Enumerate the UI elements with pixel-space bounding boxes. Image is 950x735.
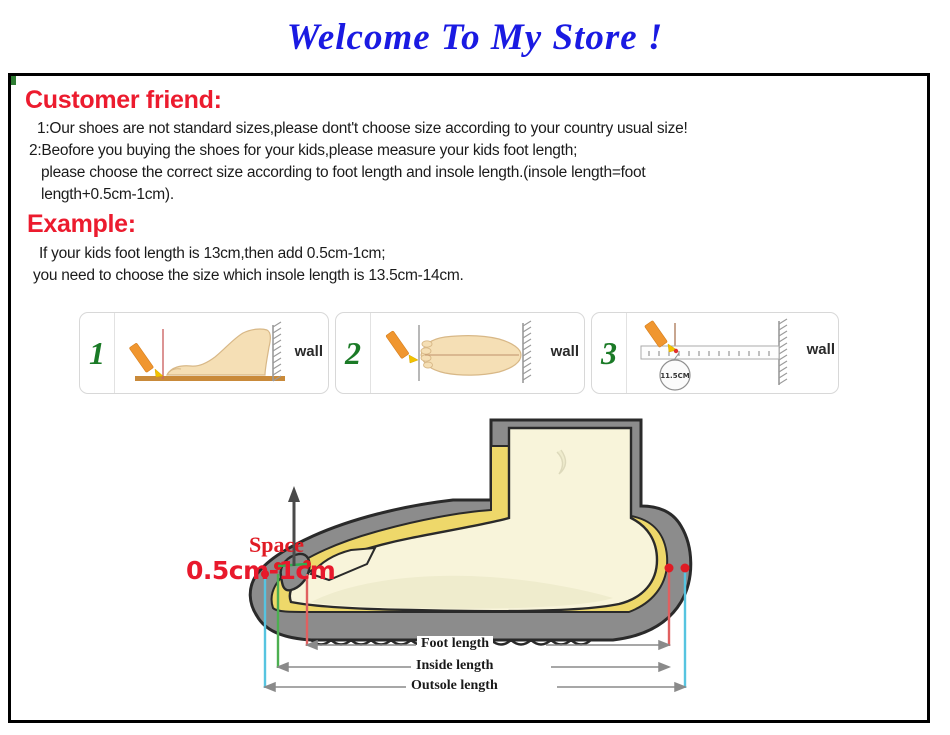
ruler-reading-text: 11.5CM	[660, 372, 689, 380]
step-card-3: 3	[591, 312, 839, 394]
step-3-number-cell: 3	[592, 313, 627, 393]
dimension-label-inside-length: Inside length	[412, 658, 497, 674]
space-label: Space	[249, 532, 304, 558]
example-heading: Example:	[27, 210, 136, 239]
measurement-steps: 1	[79, 312, 839, 394]
corner-accent-mark	[11, 76, 16, 85]
space-value-label: 0.5cm-1cm	[186, 556, 335, 585]
heel-marker-outsole	[681, 564, 690, 573]
dimension-label-outsole-length: Outsole length	[407, 678, 502, 694]
step-2-number: 2	[345, 337, 361, 369]
step-3-number: 3	[601, 337, 617, 369]
step-1-number-cell: 1	[80, 313, 115, 393]
shoe-cross-section-diagram: Space 0.5cm-1cm Foot length Inside lengt…	[161, 406, 781, 716]
customer-line-2: 2:Beofore you buying the shoes for your …	[29, 142, 577, 160]
page-title: Welcome To My Store !	[0, 16, 950, 59]
step-3-illustration: 11.5CM wall	[627, 313, 841, 393]
customer-friend-heading: Customer friend:	[25, 86, 222, 115]
step-1-illustration: wall	[115, 313, 331, 393]
step-2-illustration: wall	[371, 313, 587, 393]
step-2-number-cell: 2	[336, 313, 371, 393]
dimension-label-foot-length: Foot length	[417, 636, 493, 652]
heel-marker-foot	[665, 564, 674, 573]
step-card-1: 1	[79, 312, 329, 394]
step-1-number: 1	[89, 337, 105, 369]
example-line-1: If your kids foot length is 13cm,then ad…	[39, 245, 385, 263]
step-1-wall-label: wall	[295, 343, 323, 360]
customer-line-3: please choose the correct size according…	[41, 164, 645, 182]
step-card-2: 2	[335, 312, 585, 394]
step-3-wall-label: wall	[807, 341, 835, 358]
example-line-2: you need to choose the size which insole…	[33, 267, 464, 285]
step-2-wall-label: wall	[551, 343, 579, 360]
customer-line-1: 1:Our shoes are not standard sizes,pleas…	[37, 120, 688, 138]
info-panel: Customer friend: 1:Our shoes are not sta…	[8, 73, 930, 723]
customer-line-4: length+0.5cm-1cm).	[41, 186, 174, 204]
